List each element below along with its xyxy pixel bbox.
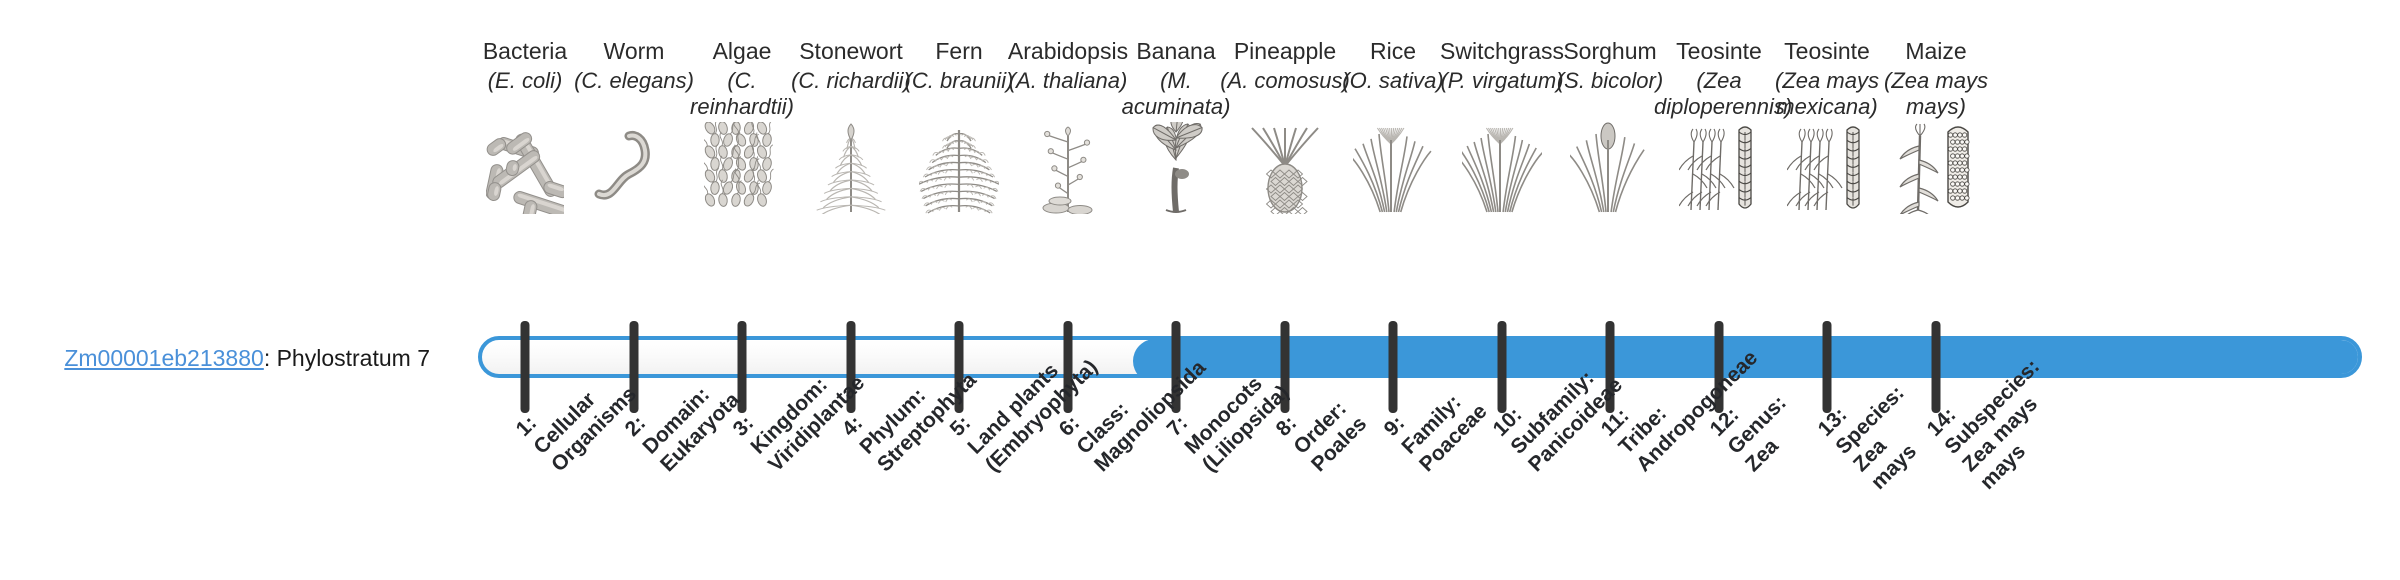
phylostratum-bar[interactable] (478, 336, 2362, 378)
stratum-label-13: 13: Species: Zea mays (1813, 363, 1945, 495)
species-common-name: Banana (1136, 38, 1215, 65)
species-common-name: Pineapple (1234, 38, 1336, 65)
phylostratum-value: Phylostratum 7 (277, 345, 430, 371)
species-common-name: Algae (713, 38, 772, 65)
phylostratum-timeline-figure: Zm00001eb213880: Phylostratum 7 Bacteria… (0, 0, 2400, 580)
species-common-name: Bacteria (483, 38, 567, 65)
species-common-name: Teosinte (1676, 38, 1762, 65)
species-common-name: Worm (604, 38, 665, 65)
tick-mark-14 (1932, 321, 1941, 413)
species-common-name: Rice (1370, 38, 1416, 65)
species-common-name: Maize (1905, 38, 1966, 65)
species-common-name: Teosinte (1784, 38, 1870, 65)
species-common-name: Arabidopsis (1008, 38, 1128, 65)
maize-plant-and-cob-icon (1871, 122, 2001, 214)
species-common-name: Stonewort (799, 38, 903, 65)
species-scientific-name: (Zea mays mays) (1871, 68, 2001, 120)
tick-mark-1 (521, 321, 530, 413)
tick-mark-10 (1498, 321, 1507, 413)
gene-row-label: Zm00001eb213880: Phylostratum 7 (0, 341, 430, 375)
tick-mark-9 (1389, 321, 1398, 413)
species-common-name: Switchgrass (1440, 38, 1564, 65)
tick-mark-13 (1823, 321, 1832, 413)
species-common-name: Fern (935, 38, 982, 65)
species-common-name: Sorghum (1563, 38, 1656, 65)
gene-label-separator: : (264, 345, 277, 371)
gene-id-link[interactable]: Zm00001eb213880 (64, 345, 264, 371)
